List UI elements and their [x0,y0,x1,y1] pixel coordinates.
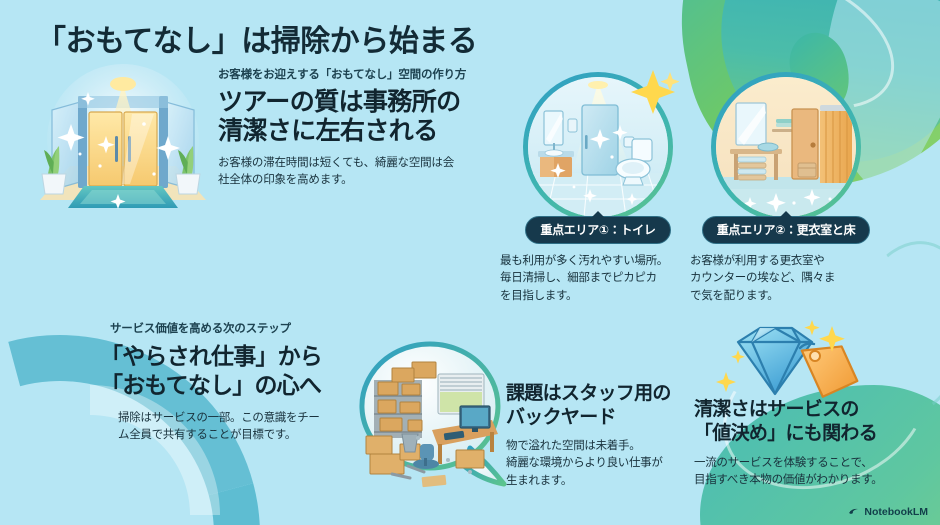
step-body-line-1: 掃除はサービスの一部。この意識をチー [118,410,362,427]
hero-body-line-1: お客様の滞在時間は短くても、綺麗な空間は会 [218,155,480,172]
backyard-heading-line-2: バックヤード [506,406,696,430]
hero-heading-line-1: ツアーの質は事務所の [218,88,480,117]
step-heading: 「やらされ仕事」から 「おもてなし」の心へ [100,342,362,400]
backyard-body: 物で溢れた空間は未着手。 綺麗な環境からより良い仕事が 生まれます。 [506,438,696,490]
focus-area-desc-2-line-3: で気を配ります。 [690,288,886,305]
value-heading-line-1: 清潔さはサービスの [694,398,909,422]
step-body-line-2: ム全員で共有することが目標です。 [118,427,362,444]
focus-area-badge-1: 重点エリア①：トイレ [525,216,670,244]
locker-room-illustration [716,77,856,217]
value-body-line-2: 目指すべき本物の価値がわかります。 [694,472,909,489]
backyard-heading-line-1: 課題はスタッフ用の [506,382,696,406]
step-text-block: サービス価値を高める次のステップ 「やらされ仕事」から 「おもてなし」の心へ 掃… [100,320,362,444]
page-title: 「おもてなし」は掃除から始まる [36,16,477,60]
backyard-body-line-3: 生まれます。 [506,473,696,490]
hero-body-line-2: 社全体の印象を高めます。 [218,172,480,189]
backyard-body-line-2: 綺麗な環境からより良い仕事が [506,455,696,472]
hero-body: お客様の滞在時間は短くても、綺麗な空間は会 社全体の印象を高めます。 [218,155,480,190]
restroom-circle [523,72,673,222]
step-eyebrow: サービス価値を高める次のステップ [100,320,362,336]
hero-eyebrow: お客様をお迎えする「おもてなし」空間の作り方 [218,66,480,82]
cluttered-backyard-illustration [352,338,514,490]
badge-row: 重点エリア②：更衣室と床 [686,216,886,244]
backyard-heading: 課題はスタッフ用の バックヤード [506,382,696,429]
value-heading: 清潔さはサービスの 「値決め」にも関わる [694,398,909,446]
focus-area-desc-2: お客様が利用する更衣室や カウンターの埃など、隅々ま で気を配ります。 [686,253,886,305]
watermark-label: NotebookLM [864,506,928,518]
sparkle-icon [627,68,679,120]
clean-entrance-illustration [22,62,224,227]
focus-area-card-toilet: 重点エリア①：トイレ 最も利用が多く汚れやすい場所。 毎日清掃し、細部までピカピ… [498,72,698,305]
hero-heading-line-2: 清潔さに左右される [218,117,480,146]
hero-text-block: お客様をお迎えする「おもてなし」空間の作り方 ツアーの質は事務所の 清潔さに左右… [218,66,480,190]
backyard-body-line-1: 物で溢れた空間は未着手。 [506,438,696,455]
diamond-price-tag-illustration [716,318,876,404]
step-heading-line-2: 「おもてなし」の心へ [100,371,362,400]
hero-heading: ツアーの質は事務所の 清潔さに左右される [218,88,480,146]
circle-ring [711,72,861,222]
badge-row: 重点エリア①：トイレ [498,216,698,244]
infographic-slide: 「おもてなし」は掃除から始まる [0,0,940,525]
step-body: 掃除はサービスの一部。この意識をチー ム全員で共有することが目標です。 [100,410,362,445]
locker-room-circle [711,72,861,222]
focus-area-desc-1-line-1: 最も利用が多く汚れやすい場所。 [500,253,698,270]
value-body-line-1: 一流のサービスを体験することで、 [694,455,909,472]
value-body: 一流のサービスを体験することで、 目指すべき本物の価値がわかります。 [694,455,909,490]
focus-area-desc-1-line-3: を目指します。 [500,288,698,305]
focus-area-desc-1-line-2: 毎日清掃し、細部までピカピカ [500,270,698,287]
value-heading-line-2: 「値決め」にも関わる [694,422,909,446]
focus-area-desc-2-line-1: お客様が利用する更衣室や [690,253,886,270]
focus-area-badge-2: 重点エリア②：更衣室と床 [702,216,871,244]
notebooklm-logo-icon [848,506,860,518]
step-heading-line-1: 「やらされ仕事」から [100,342,362,371]
backyard-text-block: 課題はスタッフ用の バックヤード 物で溢れた空間は未着手。 綺麗な環境からより良… [506,382,696,490]
focus-area-card-locker-room: 重点エリア②：更衣室と床 お客様が利用する更衣室や カウンターの埃など、隅々ま … [686,72,886,305]
notebooklm-watermark: NotebookLM [848,506,928,518]
focus-area-desc-1: 最も利用が多く汚れやすい場所。 毎日清掃し、細部までピカピカ を目指します。 [498,253,698,305]
focus-area-desc-2-line-2: カウンターの埃など、隅々ま [690,270,886,287]
value-text-block: 清潔さはサービスの 「値決め」にも関わる 一流のサービスを体験することで、 目指… [694,398,909,489]
